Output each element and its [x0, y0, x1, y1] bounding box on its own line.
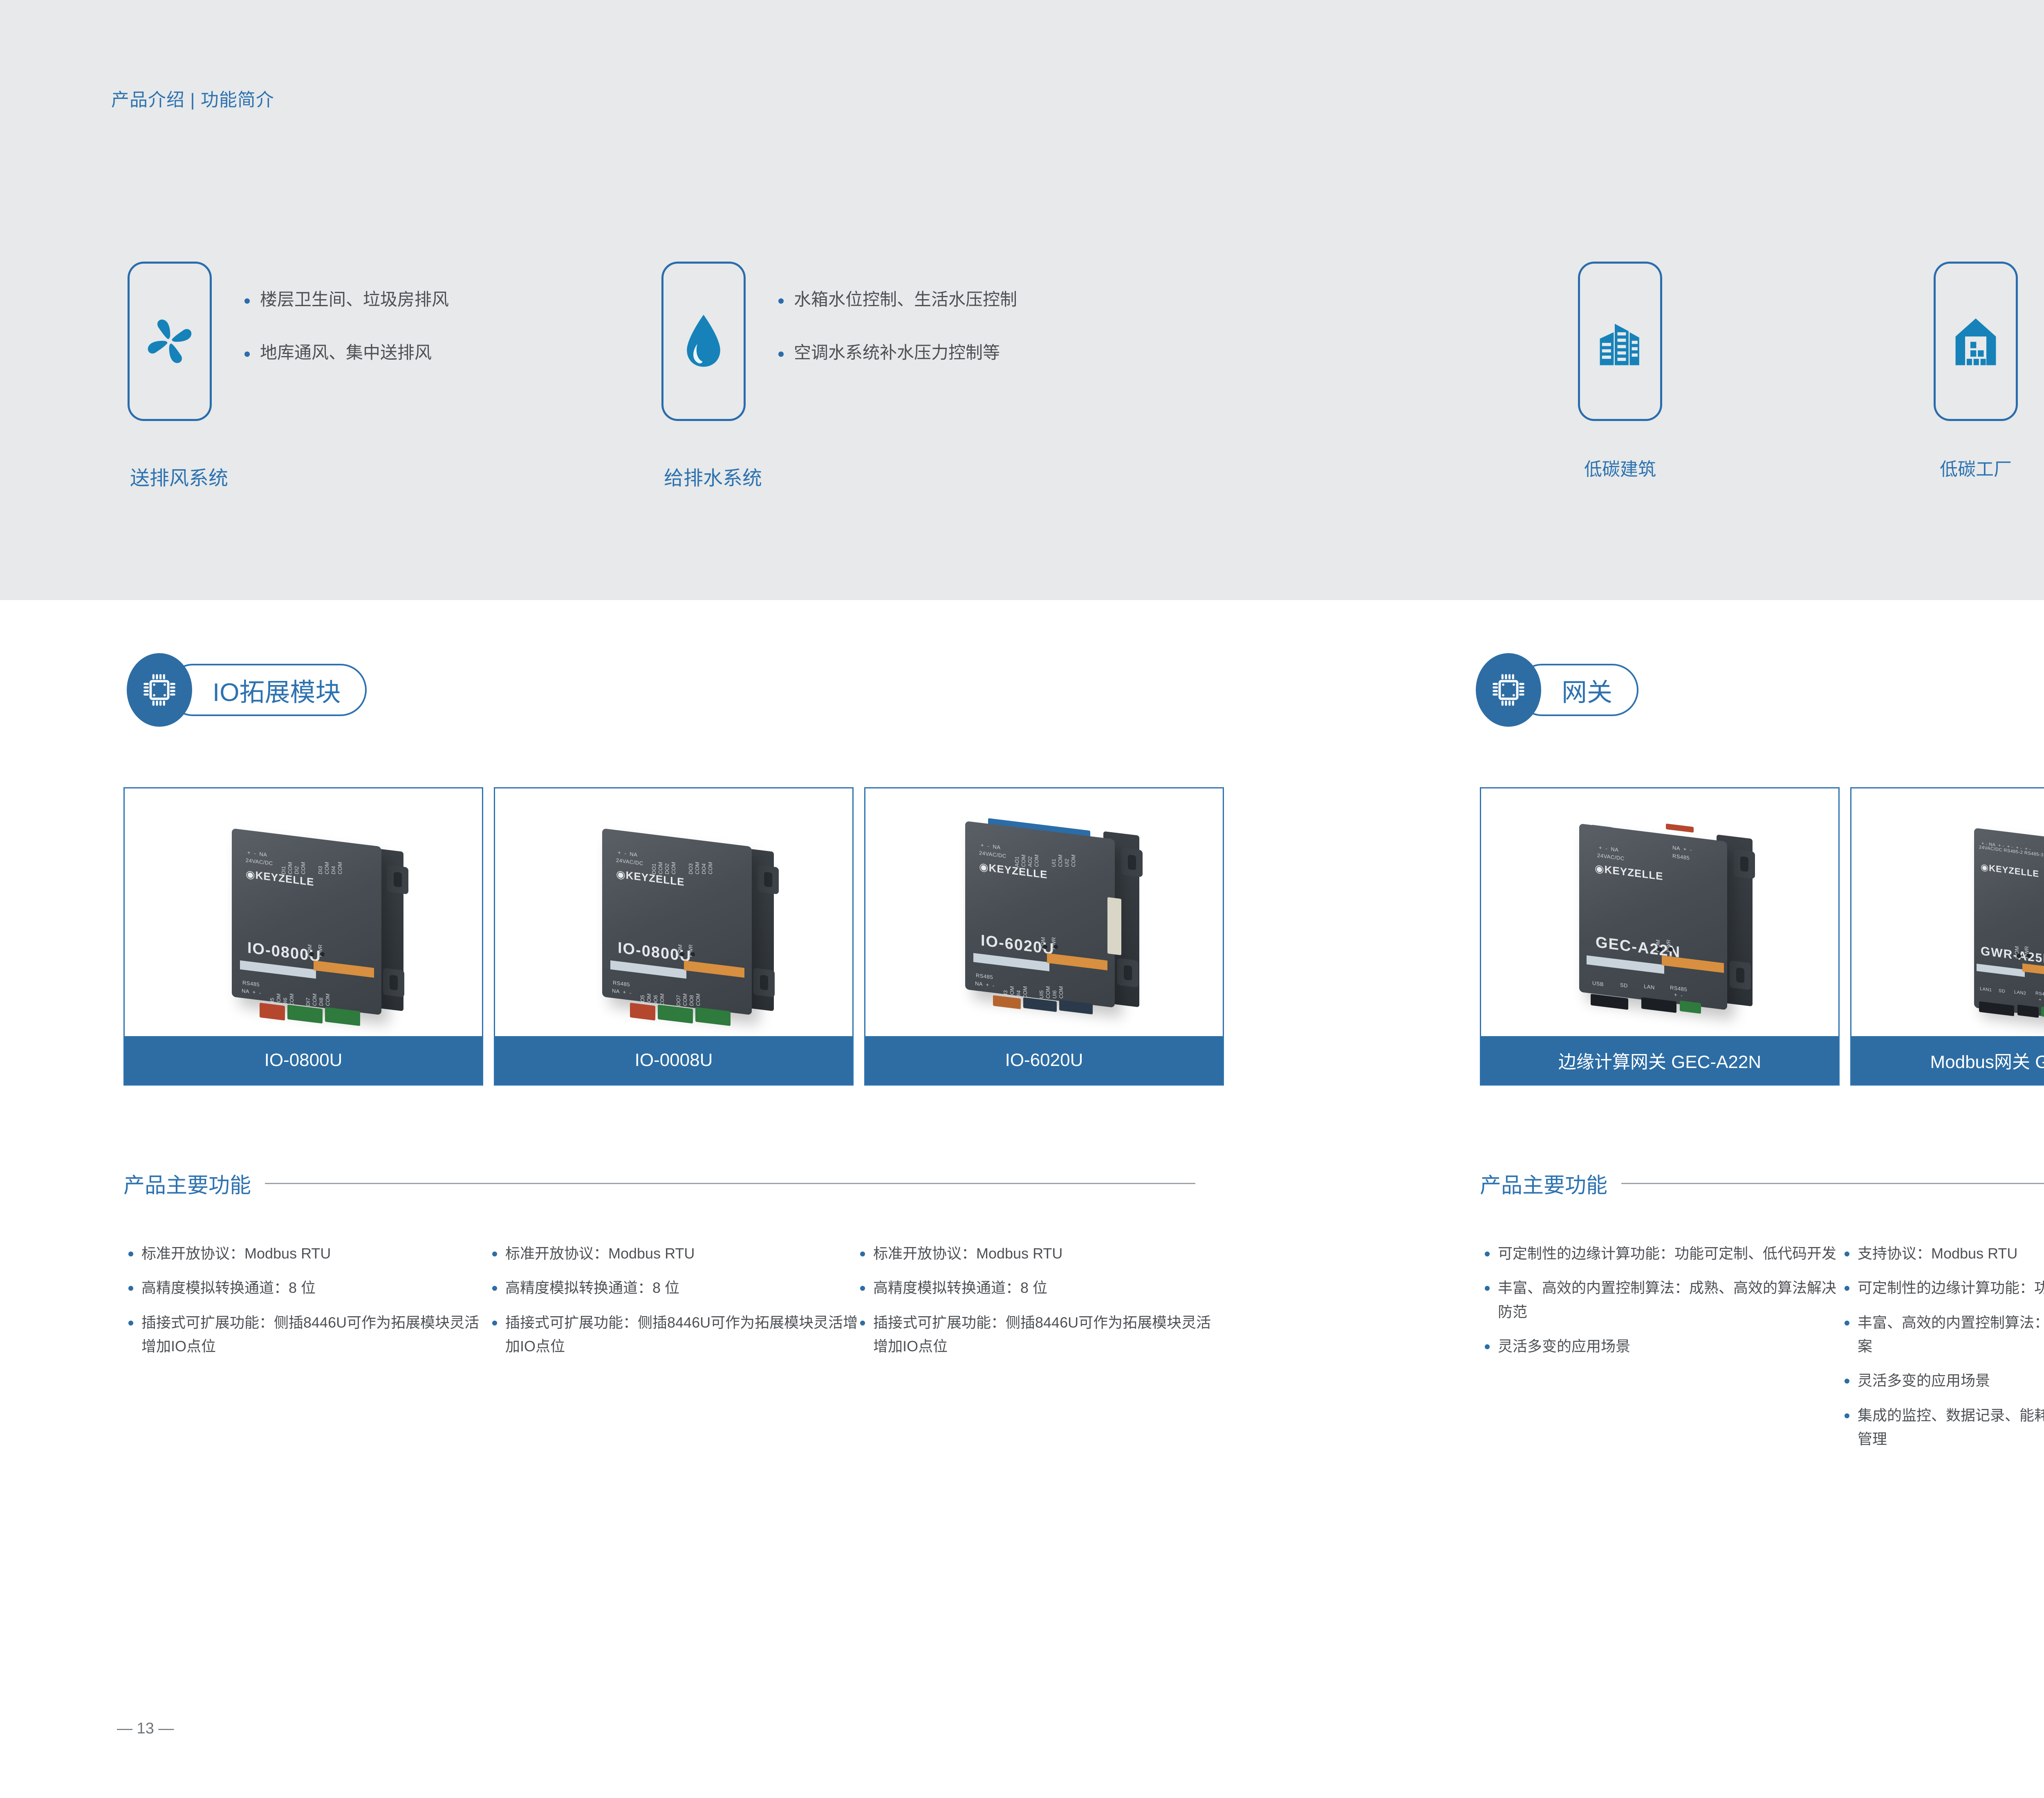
- lowcarbon-building-title: 低碳建筑: [1578, 455, 1662, 481]
- product-image-io-0008u: + - NA 24VAC/DC DO1 COM DO2 COM DO3 COM …: [495, 788, 852, 1036]
- io-product-cards: + - NA 24VAC/DC DI1 COM DI2 COM DI3 COM …: [123, 787, 1224, 1086]
- list-item: 可定制性的边缘计算功能：功能可定制、低代码开发: [1843, 1276, 2044, 1300]
- list-item: 标准开放协议：Modbus RTU: [491, 1242, 858, 1265]
- list-item: 高精度模拟转换通道：8 位: [127, 1276, 491, 1300]
- features-header-gateway: 产品主要功能: [1480, 1168, 2044, 1199]
- product-card[interactable]: + - NA + - + - + - + - 24VAC/DC RS485-2 …: [1850, 787, 2044, 1086]
- device-illustration: + - NA 24VAC/DC DI1 COM DI2 COM DI3 COM …: [125, 788, 482, 1036]
- scenario-ventilation: 楼层卫生间、垃圾房排风 地库通风、集中送排风: [128, 262, 449, 421]
- feature-list: 支持协议：Modbus RTU 可定制性的边缘计算功能：功能可定制、低代码开发 …: [1843, 1242, 2044, 1462]
- page-number-left: — 13 —: [117, 1720, 174, 1738]
- list-item: 标准开放协议：Modbus RTU: [127, 1242, 491, 1265]
- product-image-gec-a22n: + - NA 24VAC/DC NA + - RS485 ◉KEYZELLE G…: [1481, 788, 1838, 1036]
- product-card-label: IO-0800U: [125, 1036, 482, 1084]
- fan-icon-box: [128, 262, 212, 421]
- feature-list: 标准开放协议：Modbus RTU 高精度模拟转换通道：8 位 插接式可扩展功能…: [127, 1242, 491, 1369]
- product-card[interactable]: + - NA 24VAC/DC DO1 COM DO2 COM DO3 COM …: [494, 787, 854, 1086]
- divider-rule: [265, 1183, 1195, 1184]
- product-image-gwr-a25n: + - NA + - + - + - + - 24VAC/DC RS485-2 …: [1851, 788, 2044, 1036]
- lowcarbon-factory: 低碳工厂: [1934, 262, 2018, 481]
- list-item: 插接式可扩展功能：侧插8446U可作为拓展模块灵活增加IO点位: [858, 1311, 1218, 1359]
- product-card-label: 边缘计算网关 GEC-A22N: [1481, 1036, 1838, 1084]
- list-item: 空调水系统补水压力控制等: [777, 344, 1017, 361]
- list-item: 标准开放协议：Modbus RTU: [858, 1242, 1218, 1265]
- list-item: 灵活多变的应用场景: [1483, 1335, 1843, 1358]
- scenario-water-title: 给排水系统: [664, 462, 762, 490]
- chip-icon: [1490, 671, 1527, 709]
- water-drop-icon: [679, 313, 728, 370]
- top-scenario-band: 产品介绍 | 功能简介 产品介绍 | 功能简介 楼层卫生间、垃圾房排风 地库通风…: [0, 0, 2044, 600]
- device-illustration: + - NA 24VAC/DC AO1 COM AO2 COM UI1 COM …: [865, 788, 1223, 1036]
- chip-icon-circle: [127, 653, 192, 727]
- features-title: 产品主要功能: [1480, 1168, 1607, 1199]
- page-header-left: 产品介绍 | 功能简介: [111, 85, 274, 111]
- list-item: 丰富、高效的内置控制算法：成熟、高效的算法解决方案: [1843, 1311, 2044, 1359]
- features-header-io: 产品主要功能: [123, 1168, 1195, 1199]
- list-item: 支持协议：Modbus RTU: [1843, 1242, 2044, 1265]
- list-item: 水箱水位控制、生活水压控制: [777, 291, 1017, 308]
- device-illustration: + - NA 24VAC/DC DO1 COM DO2 COM DO3 COM …: [495, 788, 852, 1036]
- gateway-product-cards: + - NA 24VAC/DC NA + - RS485 ◉KEYZELLE G…: [1480, 787, 2044, 1086]
- lowcarbon-building: 低碳建筑: [1578, 262, 1662, 481]
- product-image-io-6020u: + - NA 24VAC/DC AO1 COM AO2 COM UI1 COM …: [865, 788, 1223, 1036]
- features-columns-gateway: 可定制性的边缘计算功能：功能可定制、低代码开发 丰富、高效的内置控制算法：成熟、…: [1483, 1242, 2044, 1462]
- list-item: 地库通风、集中送排风: [243, 344, 449, 361]
- product-card[interactable]: + - NA 24VAC/DC DI1 COM DI2 COM DI3 COM …: [123, 787, 483, 1086]
- product-card-label: IO-0008U: [495, 1036, 852, 1084]
- office-buildings-icon-box: [1578, 262, 1662, 421]
- section-badge-io-label: IO拓展模块: [167, 664, 367, 716]
- feature-list: 标准开放协议：Modbus RTU 高精度模拟转换通道：8 位 插接式可扩展功能…: [491, 1242, 858, 1369]
- list-item: 丰富、高效的内置控制算法：成熟、高效的算法解决防范: [1483, 1276, 1843, 1324]
- list-item: 集成的监控、数据记录、能耗计量、报警、调度和网络管理: [1843, 1404, 2044, 1451]
- list-item: 灵活多变的应用场景: [1843, 1369, 2044, 1393]
- brochure-page: 产品介绍 | 功能简介 产品介绍 | 功能简介 楼层卫生间、垃圾房排风 地库通风…: [0, 0, 2044, 1798]
- feature-list: 可定制性的边缘计算功能：功能可定制、低代码开发 丰富、高效的内置控制算法：成熟、…: [1483, 1242, 1843, 1462]
- scenario-ventilation-title: 送排风系统: [130, 462, 228, 490]
- chip-icon: [141, 671, 178, 709]
- scenario-water-text: 水箱水位控制、生活水压控制 空调水系统补水压力控制等: [777, 262, 1017, 361]
- factory-icon-box: [1934, 262, 2018, 421]
- chip-icon-circle: [1476, 653, 1541, 727]
- scenario-ventilation-bullets: 楼层卫生间、垃圾房排风 地库通风、集中送排风: [243, 291, 449, 361]
- scenario-ventilation-text: 楼层卫生间、垃圾房排风 地库通风、集中送排风: [243, 262, 449, 361]
- product-card-label: IO-6020U: [865, 1036, 1223, 1084]
- section-badge-gateway: 网关: [1476, 653, 1638, 727]
- product-image-io-0800u: + - NA 24VAC/DC DI1 COM DI2 COM DI3 COM …: [125, 788, 482, 1036]
- list-item: 高精度模拟转换通道：8 位: [858, 1276, 1218, 1300]
- water-drop-icon-box: [661, 262, 746, 421]
- list-item: 插接式可扩展功能：侧插8446U可作为拓展模块灵活增加IO点位: [491, 1311, 858, 1359]
- features-columns-io: 标准开放协议：Modbus RTU 高精度模拟转换通道：8 位 插接式可扩展功能…: [127, 1242, 1230, 1369]
- factory-icon: [1949, 313, 2002, 370]
- divider-rule: [1621, 1183, 2044, 1184]
- product-card-label: Modbus网关 GWR-A25N: [1851, 1036, 2044, 1084]
- feature-list: 标准开放协议：Modbus RTU 高精度模拟转换通道：8 位 插接式可扩展功能…: [858, 1242, 1218, 1369]
- list-item: 插接式可扩展功能：侧插8446U可作为拓展模块灵活增加IO点位: [127, 1311, 491, 1359]
- features-title: 产品主要功能: [123, 1168, 251, 1199]
- scenario-water-bullets: 水箱水位控制、生活水压控制 空调水系统补水压力控制等: [777, 291, 1017, 361]
- list-item: 可定制性的边缘计算功能：功能可定制、低代码开发: [1483, 1242, 1843, 1265]
- device-illustration: + - NA 24VAC/DC NA + - RS485 ◉KEYZELLE G…: [1481, 788, 1838, 1036]
- list-item: 楼层卫生间、垃圾房排风: [243, 291, 449, 308]
- office-buildings-icon: [1594, 313, 1647, 370]
- scenario-water: 水箱水位控制、生活水压控制 空调水系统补水压力控制等: [661, 262, 1017, 421]
- lowcarbon-factory-title: 低碳工厂: [1934, 455, 2018, 481]
- product-card[interactable]: + - NA 24VAC/DC AO1 COM AO2 COM UI1 COM …: [864, 787, 1224, 1086]
- product-card[interactable]: + - NA 24VAC/DC NA + - RS485 ◉KEYZELLE G…: [1480, 787, 1840, 1086]
- fan-icon: [143, 315, 196, 368]
- section-badge-io: IO拓展模块: [127, 653, 367, 727]
- device-illustration: + - NA + - + - + - + - 24VAC/DC RS485-2 …: [1851, 788, 2044, 1036]
- list-item: 高精度模拟转换通道：8 位: [491, 1276, 858, 1300]
